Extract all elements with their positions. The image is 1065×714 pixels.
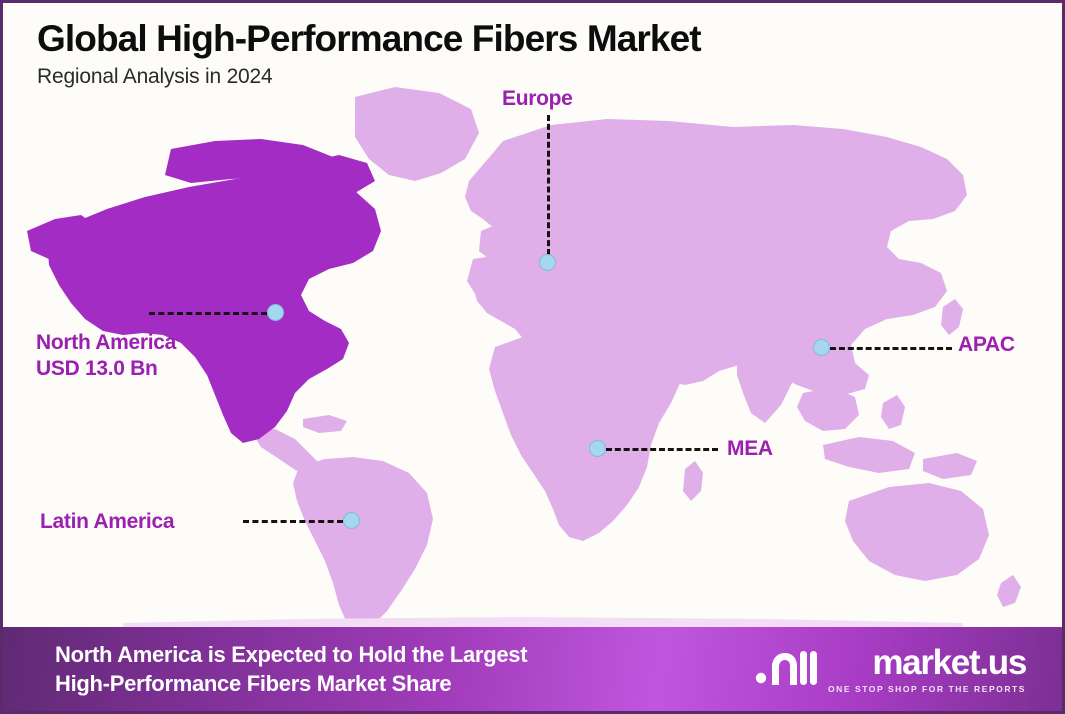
- marker-europe[interactable]: [539, 254, 556, 271]
- region-label-north-america: North America USD 13.0 Bn: [36, 330, 176, 381]
- region-japan: [941, 299, 963, 335]
- marker-latin-america[interactable]: [343, 512, 360, 529]
- footer-banner: North America is Expected to Hold the La…: [3, 627, 1062, 711]
- logo-tagline: ONE STOP SHOP FOR THE REPORTS: [828, 684, 1026, 694]
- region-greenland: [355, 87, 479, 181]
- marker-mea[interactable]: [589, 440, 606, 457]
- region-north-america-main: [47, 175, 381, 443]
- connector-latin-america: [243, 520, 343, 523]
- logo-wordmark: market.us: [872, 645, 1026, 680]
- infographic-root: Global High-Performance Fibers Market Re…: [0, 0, 1065, 714]
- logo-text-block: market.us ONE STOP SHOP FOR THE REPORTS: [828, 645, 1026, 694]
- connector-apac: [830, 347, 952, 350]
- marker-north-america[interactable]: [267, 304, 284, 321]
- region-new-zealand: [997, 575, 1021, 607]
- region-caribbean: [303, 415, 347, 433]
- market-us-logo[interactable]: market.us ONE STOP SHOP FOR THE REPORTS: [755, 645, 1038, 694]
- region-india: [737, 351, 793, 423]
- marker-apac[interactable]: [813, 339, 830, 356]
- region-australia: [845, 483, 989, 581]
- connector-europe: [547, 115, 550, 255]
- page-subtitle: Regional Analysis in 2024: [37, 65, 701, 89]
- region-new-guinea: [923, 453, 977, 479]
- region-label-mea: MEA: [727, 436, 773, 462]
- region-south-america: [293, 457, 433, 631]
- region-label-apac: APAC: [958, 332, 1015, 358]
- header: Global High-Performance Fibers Market Re…: [37, 19, 701, 89]
- region-philippines: [881, 395, 905, 429]
- connector-mea: [606, 448, 718, 451]
- region-madagascar: [683, 461, 703, 501]
- connector-north-america: [149, 312, 267, 315]
- footer-headline: North America is Expected to Hold the La…: [55, 640, 527, 698]
- map-highlight-region-north-america: [27, 139, 381, 443]
- region-indonesia: [823, 437, 915, 473]
- market-us-logo-icon: [755, 645, 817, 694]
- region-southeast-asia: [797, 387, 859, 431]
- page-title: Global High-Performance Fibers Market: [37, 19, 701, 59]
- region-label-latin-america: Latin America: [40, 509, 174, 535]
- region-label-europe: Europe: [502, 86, 573, 112]
